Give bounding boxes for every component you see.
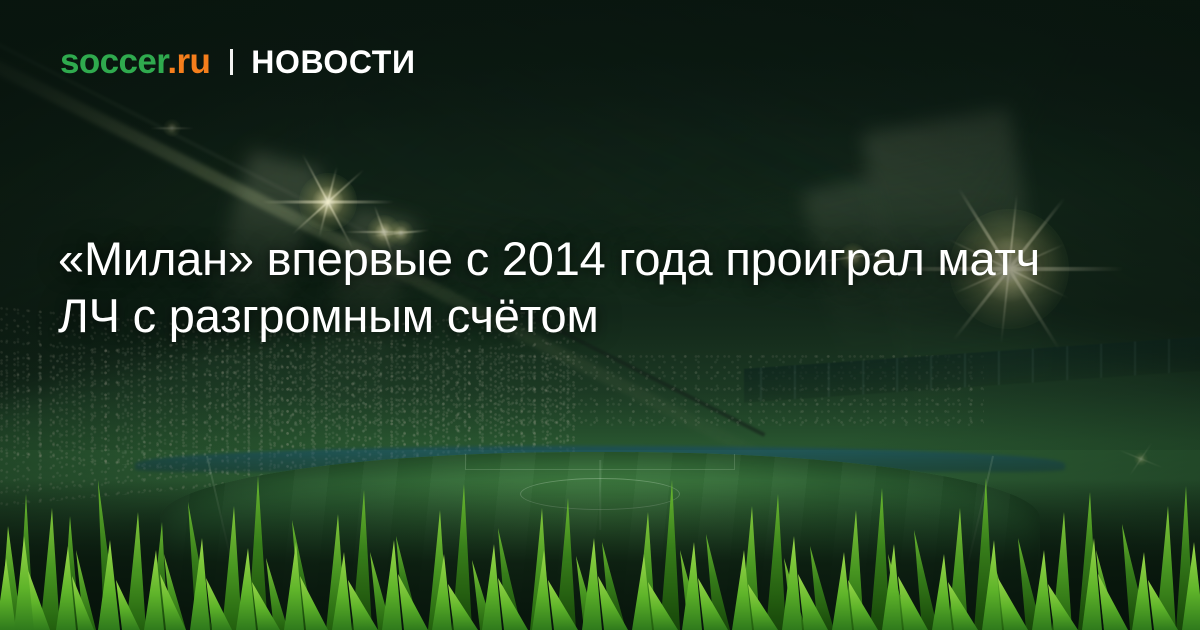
site-header: soccer.ru НОВОСТИ [60,44,416,79]
news-share-card: soccer.ru НОВОСТИ «Милан» впервые с 2014… [0,0,1200,630]
article-headline: «Милан» впервые с 2014 года проиграл мат… [58,230,1058,344]
logo-word-ru: .ru [167,42,210,81]
soccer-ru-logo[interactable]: soccer.ru [60,44,210,79]
header-separator-bar [230,49,233,75]
top-darkening-scrim [0,0,1200,210]
section-label-news[interactable]: НОВОСТИ [251,46,415,78]
logo-word-soccer: soccer [60,42,167,81]
